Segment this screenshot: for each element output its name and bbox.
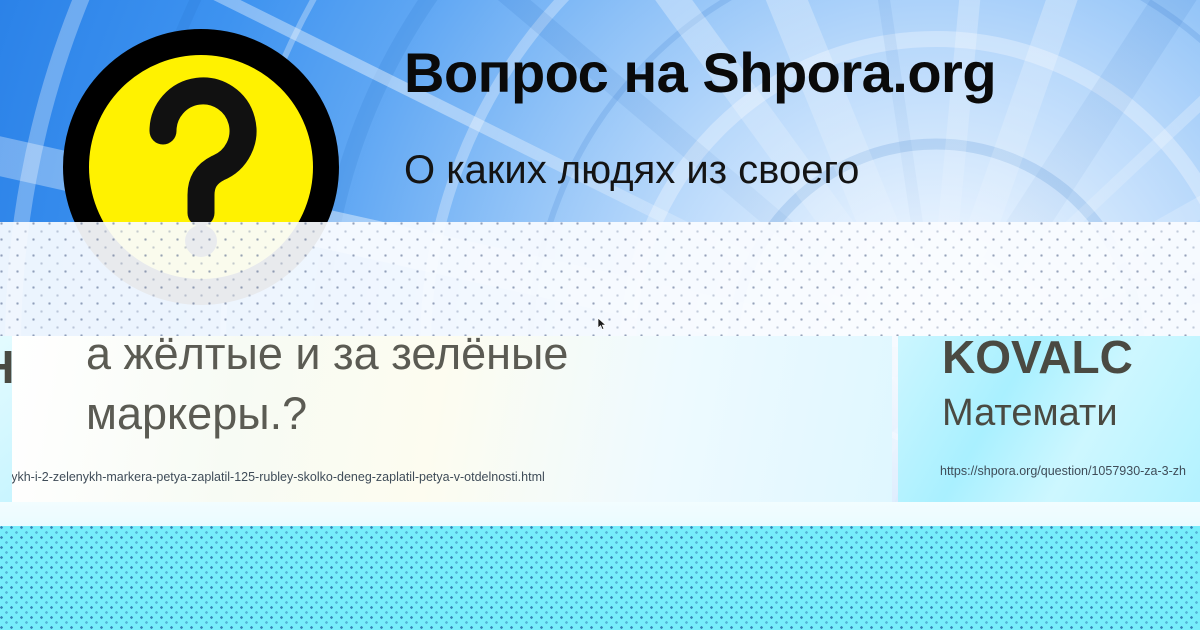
banner: Вопрос на Shpora.org О каких людях из св…	[0, 0, 1200, 222]
author-name: KOVALC	[942, 336, 1133, 384]
screenshot-stage: Вопрос на Shpora.org О каких людях из св…	[0, 0, 1200, 630]
question-text-line-1: а жёлтые и за зелёные	[86, 336, 568, 380]
subject-label: Математи	[942, 392, 1118, 435]
bottom-dotted-region	[0, 526, 1200, 630]
page-subtitle: О каких людях из своего	[404, 148, 859, 192]
content-band: CHUK ка а жёлтые и за зелёные маркеры.? …	[0, 336, 1200, 502]
bottom-plain-strip	[0, 502, 1200, 526]
card-center-question[interactable]: а жёлтые и за зелёные маркеры.? eltykh-i…	[12, 336, 892, 502]
mouse-cursor-icon	[598, 318, 608, 330]
right-card-url[interactable]: https://shpora.org/question/1057930-za-3…	[940, 464, 1186, 478]
card-right-author[interactable]: KOVALC Математи https://shpora.org/quest…	[898, 336, 1200, 502]
question-text-line-2: маркеры.?	[86, 388, 307, 440]
page-title: Вопрос на Shpora.org	[404, 44, 996, 103]
center-card-url[interactable]: eltykh-i-2-zelenykh-markera-petya-zaplat…	[12, 470, 545, 484]
